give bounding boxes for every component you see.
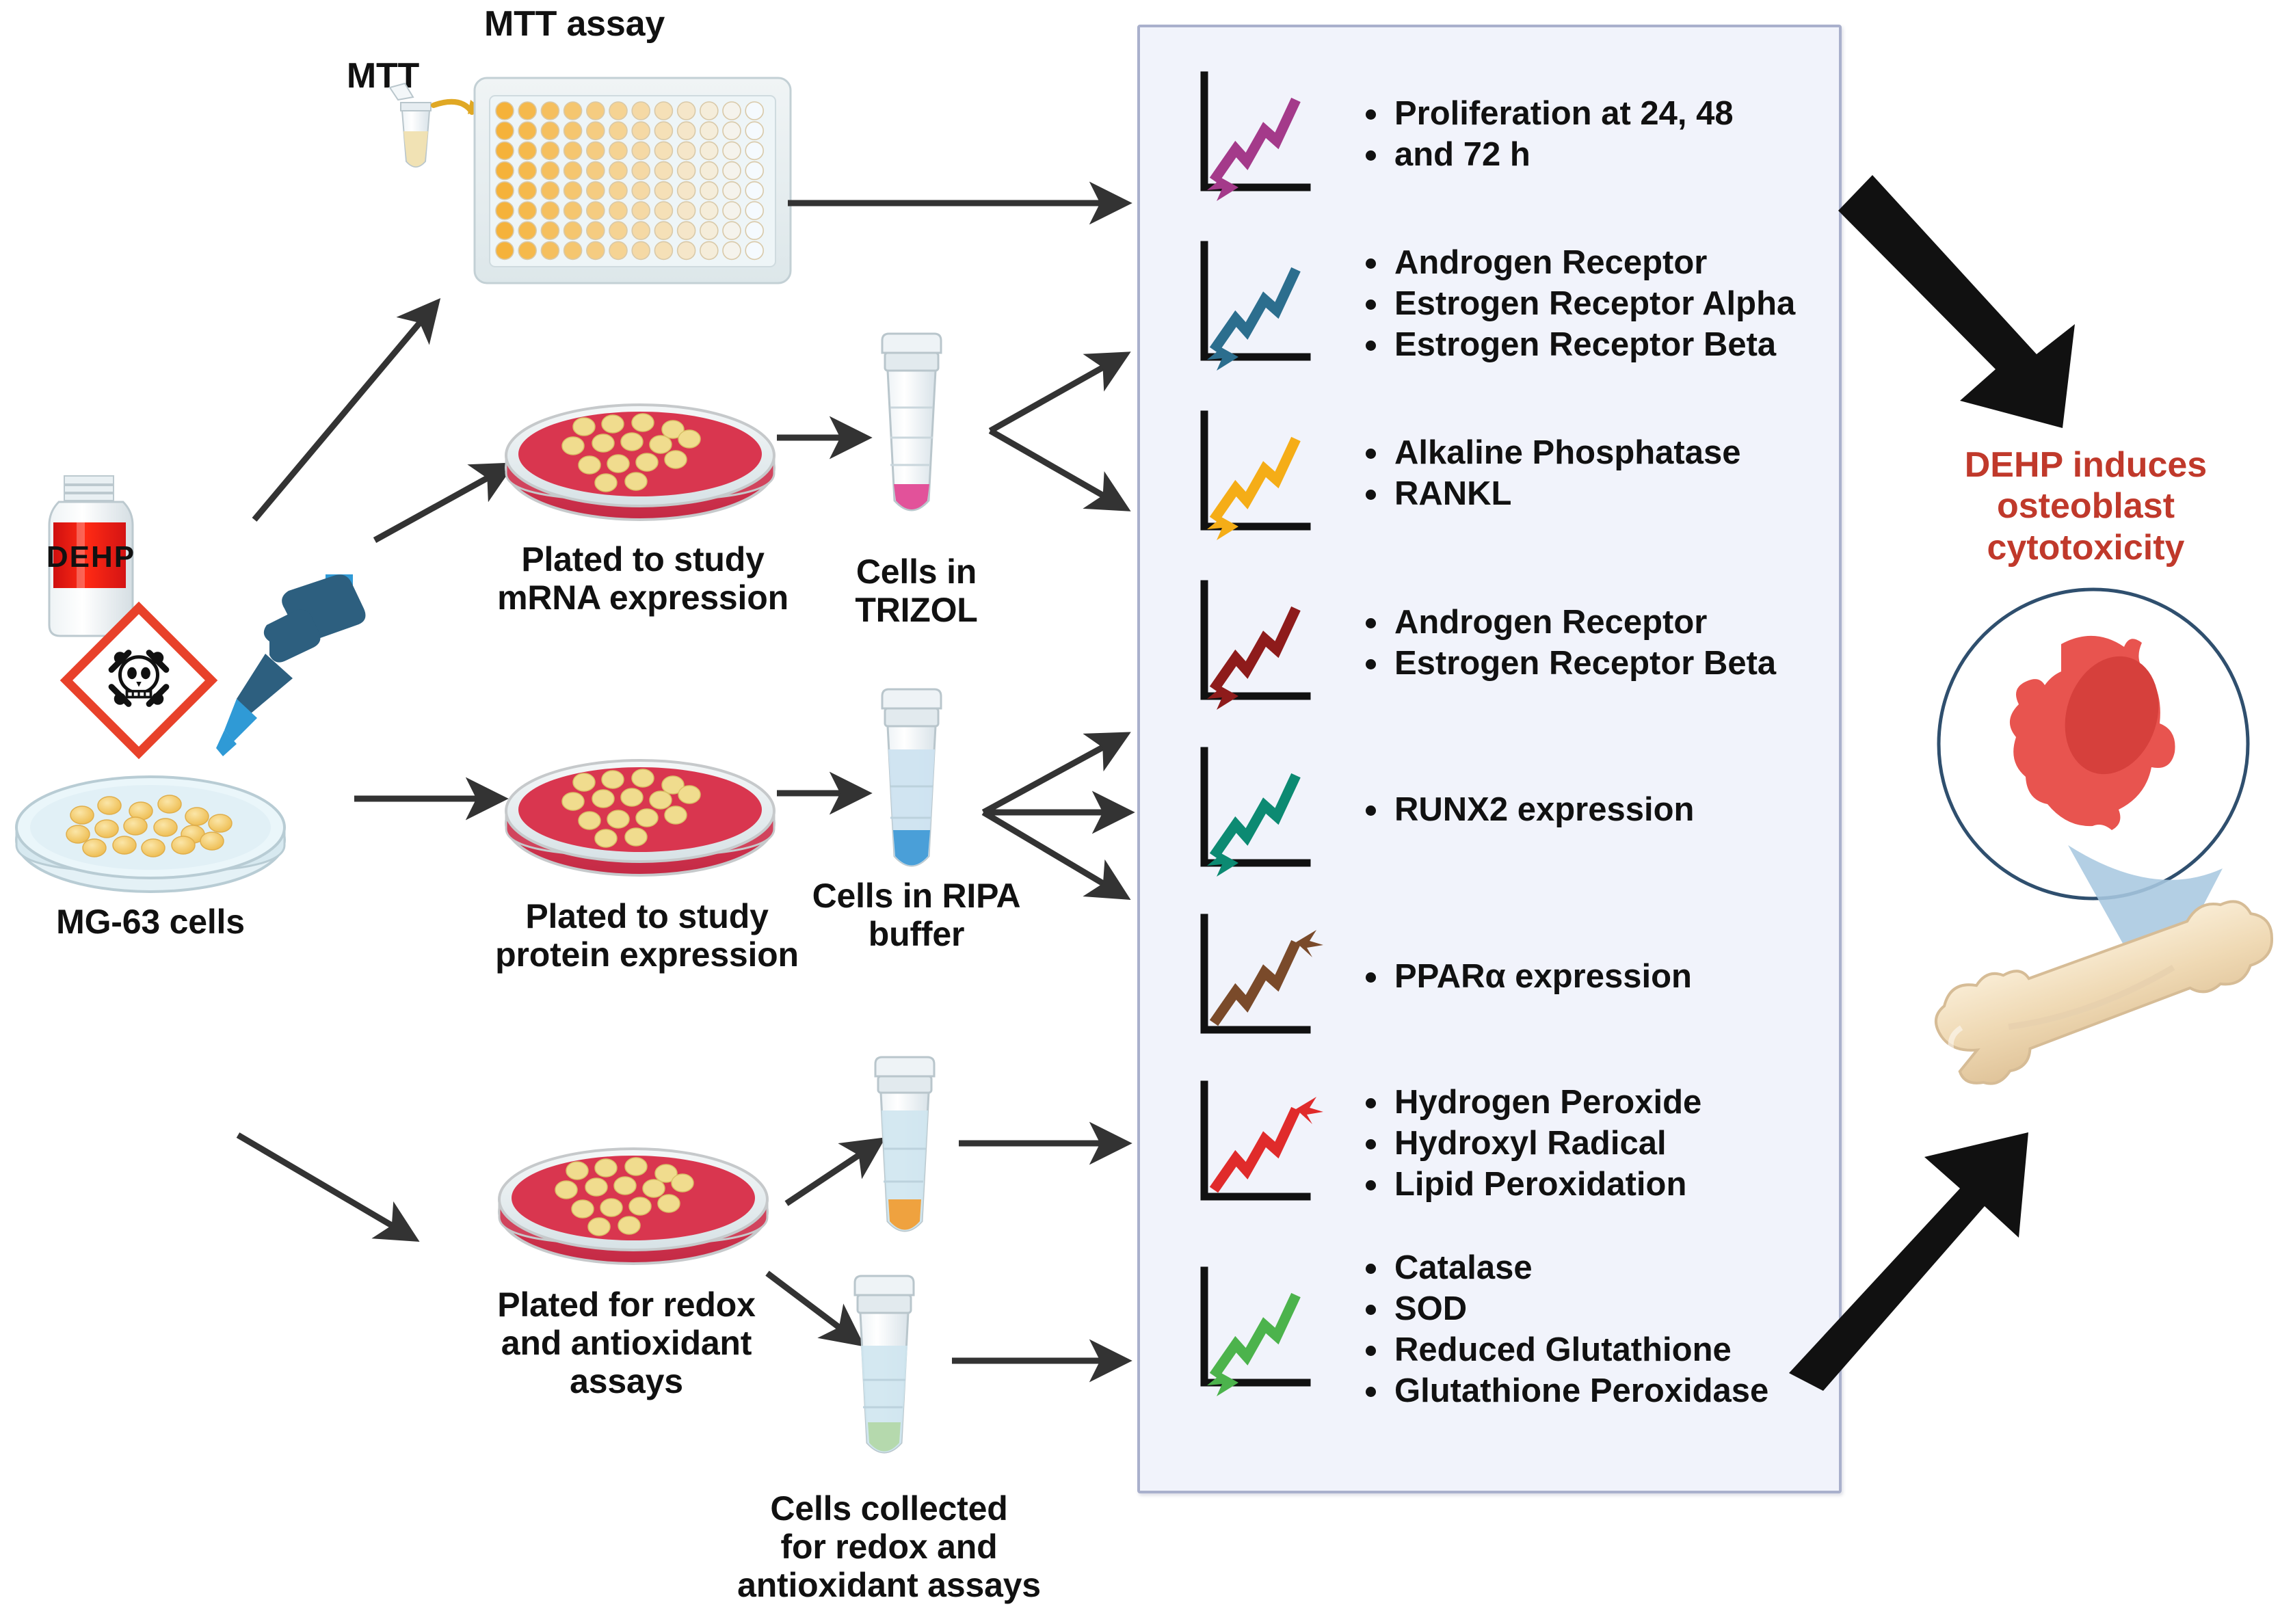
trend-chart-down-icon — [1193, 239, 1323, 369]
result-bullet-list: PPARα expression — [1356, 957, 1844, 998]
result-bullet-list: RUNX2 expression — [1356, 790, 1844, 831]
result-row: PPARα expression — [1140, 905, 1844, 1049]
trend-chart-down-icon — [1193, 1265, 1323, 1395]
list-item: and 72 h — [1356, 135, 1844, 176]
results-panel: Proliferation at 24, 48and 72 hAndrogen … — [1137, 25, 1842, 1493]
ripa-tube-icon — [855, 684, 971, 909]
list-item: Alkaline Phosphatase — [1356, 433, 1844, 474]
trend-chart-down-icon — [1193, 409, 1323, 539]
redox-tube-green-icon — [827, 1270, 944, 1496]
list-item: Catalase — [1356, 1248, 1844, 1289]
trend-chart-up-icon — [1193, 912, 1323, 1042]
list-item: SOD — [1356, 1289, 1844, 1330]
trend-chart-up-icon — [1193, 1079, 1323, 1209]
mrna-petri-dish-icon — [496, 353, 784, 537]
list-item: RANKL — [1356, 474, 1844, 515]
trend-chart-down-icon — [1193, 745, 1323, 875]
result-bullet-list: Proliferation at 24, 48and 72 h — [1356, 94, 1844, 176]
result-row: RUNX2 expression — [1140, 738, 1844, 882]
trizol-tube-icon — [855, 328, 971, 554]
long-bone-icon — [1908, 882, 2291, 1156]
redox-tubes-label: Cells collected for redox and antioxidan… — [718, 1489, 1060, 1604]
result-row: Proliferation at 24, 48and 72 h — [1140, 63, 1844, 207]
protein-dish-label: Plated to study protein expression — [462, 897, 832, 974]
ripa-tube-label: Cells in RIPA buffer — [786, 877, 1046, 953]
list-item: Proliferation at 24, 48 — [1356, 94, 1844, 135]
list-item: Lipid Peroxidation — [1356, 1164, 1844, 1206]
result-row: Androgen ReceptorEstrogen Receptor Beta — [1140, 572, 1844, 715]
list-item: Estrogen Receptor Beta — [1356, 325, 1844, 366]
result-bullet-list: Androgen ReceptorEstrogen Receptor Beta — [1356, 602, 1844, 684]
list-item: Hydrogen Peroxide — [1356, 1082, 1844, 1123]
list-item: RUNX2 expression — [1356, 790, 1844, 831]
result-bullet-list: CatalaseSODReduced GlutathioneGlutathion… — [1356, 1248, 1844, 1411]
redox-dish-label: Plated for redox and antioxidant assays — [455, 1286, 797, 1400]
protein-petri-dish-icon — [496, 708, 784, 893]
result-row: CatalaseSODReduced GlutathioneGlutathion… — [1140, 1258, 1844, 1402]
list-item: Hydroxyl Radical — [1356, 1123, 1844, 1164]
result-row: Hydrogen PeroxideHydroxyl RadicalLipid P… — [1140, 1072, 1844, 1216]
trend-chart-down-icon — [1193, 578, 1323, 708]
list-item: Estrogen Receptor Alpha — [1356, 284, 1844, 325]
trizol-tube-label: Cells in TRIZOL — [807, 553, 1026, 629]
result-bullet-list: Alkaline PhosphataseRANKL — [1356, 433, 1844, 515]
big-arrow-down-right — [1819, 171, 2106, 458]
list-item: Estrogen Receptor Beta — [1356, 643, 1844, 684]
trend-chart-down-icon — [1193, 70, 1323, 200]
redox-tube-orange-icon — [848, 1053, 964, 1272]
result-row: Alkaline PhosphataseRANKL — [1140, 402, 1844, 546]
list-item: Reduced Glutathione — [1356, 1330, 1844, 1371]
list-item: Androgen Receptor — [1356, 602, 1844, 643]
list-item: PPARα expression — [1356, 957, 1844, 998]
list-item: Glutathione Peroxidase — [1356, 1371, 1844, 1412]
result-bullet-list: Hydrogen PeroxideHydroxyl RadicalLipid P… — [1356, 1082, 1844, 1205]
redox-petri-dish-icon — [490, 1097, 777, 1281]
list-item: Androgen Receptor — [1356, 243, 1844, 284]
conclusion-text: DEHP induces osteoblast cytotoxicity — [1901, 444, 2270, 568]
graphical-abstract: MTT assay MTT (function(){ const g=docum… — [0, 0, 2293, 1624]
mrna-dish-label: Plated to study mRNA expression — [472, 540, 814, 617]
result-bullet-list: Androgen ReceptorEstrogen Receptor Alpha… — [1356, 243, 1844, 365]
result-row: Androgen ReceptorEstrogen Receptor Alpha… — [1140, 232, 1844, 376]
